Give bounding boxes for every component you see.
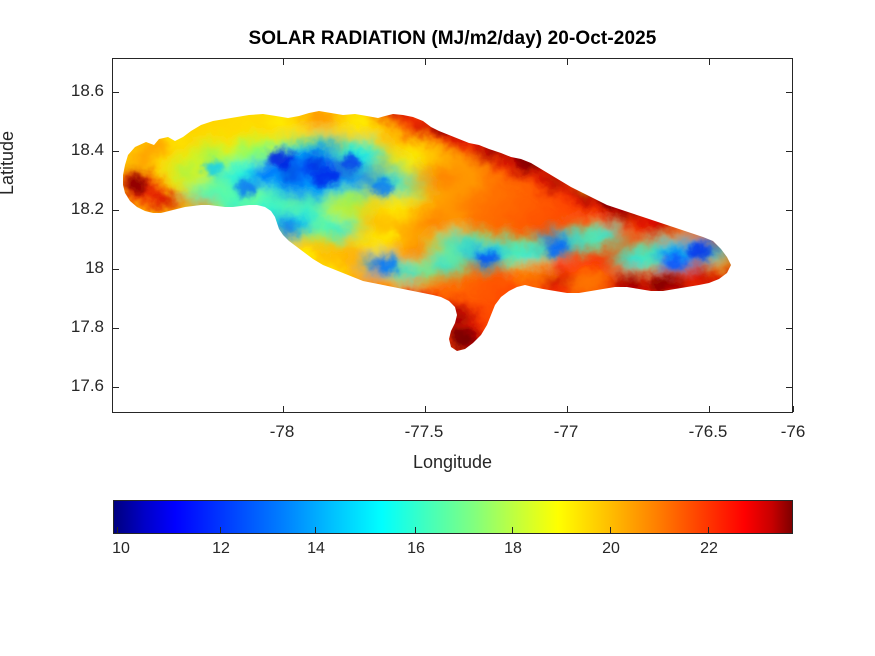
colorbar-tick	[708, 527, 709, 534]
ytick-mark	[786, 269, 792, 270]
ytick-label: 18.2	[48, 199, 104, 219]
solar-radiation-heatmap	[113, 59, 794, 414]
ytick-label: 18.6	[48, 81, 104, 101]
ytick-label: 17.6	[48, 376, 104, 396]
xtick-mark	[567, 406, 568, 412]
y-axis-label: Latitude	[0, 131, 18, 195]
colorbar-tick	[220, 527, 221, 534]
colorbar	[113, 500, 793, 534]
ytick-mark	[786, 92, 792, 93]
xtick-mark	[425, 59, 426, 65]
map-axes	[112, 58, 793, 413]
x-axis-label: Longitude	[112, 452, 793, 473]
ytick-mark	[113, 328, 119, 329]
xtick-mark	[425, 406, 426, 412]
colorbar-tick-label: 22	[700, 540, 718, 558]
xtick-mark	[709, 406, 710, 412]
figure-canvas: SOLAR RADIATION (MJ/m2/day) 20-Oct-2025	[0, 0, 875, 656]
colorbar-tick-label: 10	[112, 540, 130, 558]
page-title: SOLAR RADIATION (MJ/m2/day) 20-Oct-2025	[112, 28, 793, 50]
xtick-mark	[283, 59, 284, 65]
colorbar-tick-label: 16	[407, 540, 425, 558]
ytick-label: 18	[48, 258, 104, 278]
colorbar-tick	[512, 527, 513, 534]
colorbar-tick	[315, 527, 316, 534]
xtick-label: -77.5	[405, 422, 444, 442]
colorbar-gradient	[113, 500, 793, 534]
ytick-mark	[786, 328, 792, 329]
ytick-mark	[113, 151, 119, 152]
ytick-mark	[113, 387, 119, 388]
xtick-mark	[283, 406, 284, 412]
ytick-mark	[786, 387, 792, 388]
heatmap-field	[113, 59, 794, 414]
xtick-mark	[793, 406, 794, 412]
colorbar-tick	[610, 527, 611, 534]
colorbar-tick-label: 12	[212, 540, 230, 558]
xtick-label: -78	[270, 422, 295, 442]
colorbar-tick	[415, 527, 416, 534]
colorbar-tick-label: 18	[504, 540, 522, 558]
ytick-mark	[786, 210, 792, 211]
ytick-mark	[113, 269, 119, 270]
xtick-label: -76.5	[689, 422, 728, 442]
ytick-label: 17.8	[48, 317, 104, 337]
xtick-mark	[567, 59, 568, 65]
ytick-mark	[113, 92, 119, 93]
xtick-mark	[709, 59, 710, 65]
ytick-label: 18.4	[48, 140, 104, 160]
ytick-mark	[786, 151, 792, 152]
colorbar-tick	[117, 527, 118, 534]
colorbar-tick-label: 20	[602, 540, 620, 558]
xtick-label: -76	[781, 422, 806, 442]
ytick-mark	[113, 210, 119, 211]
colorbar-tick-label: 14	[307, 540, 325, 558]
xtick-label: -77	[554, 422, 579, 442]
